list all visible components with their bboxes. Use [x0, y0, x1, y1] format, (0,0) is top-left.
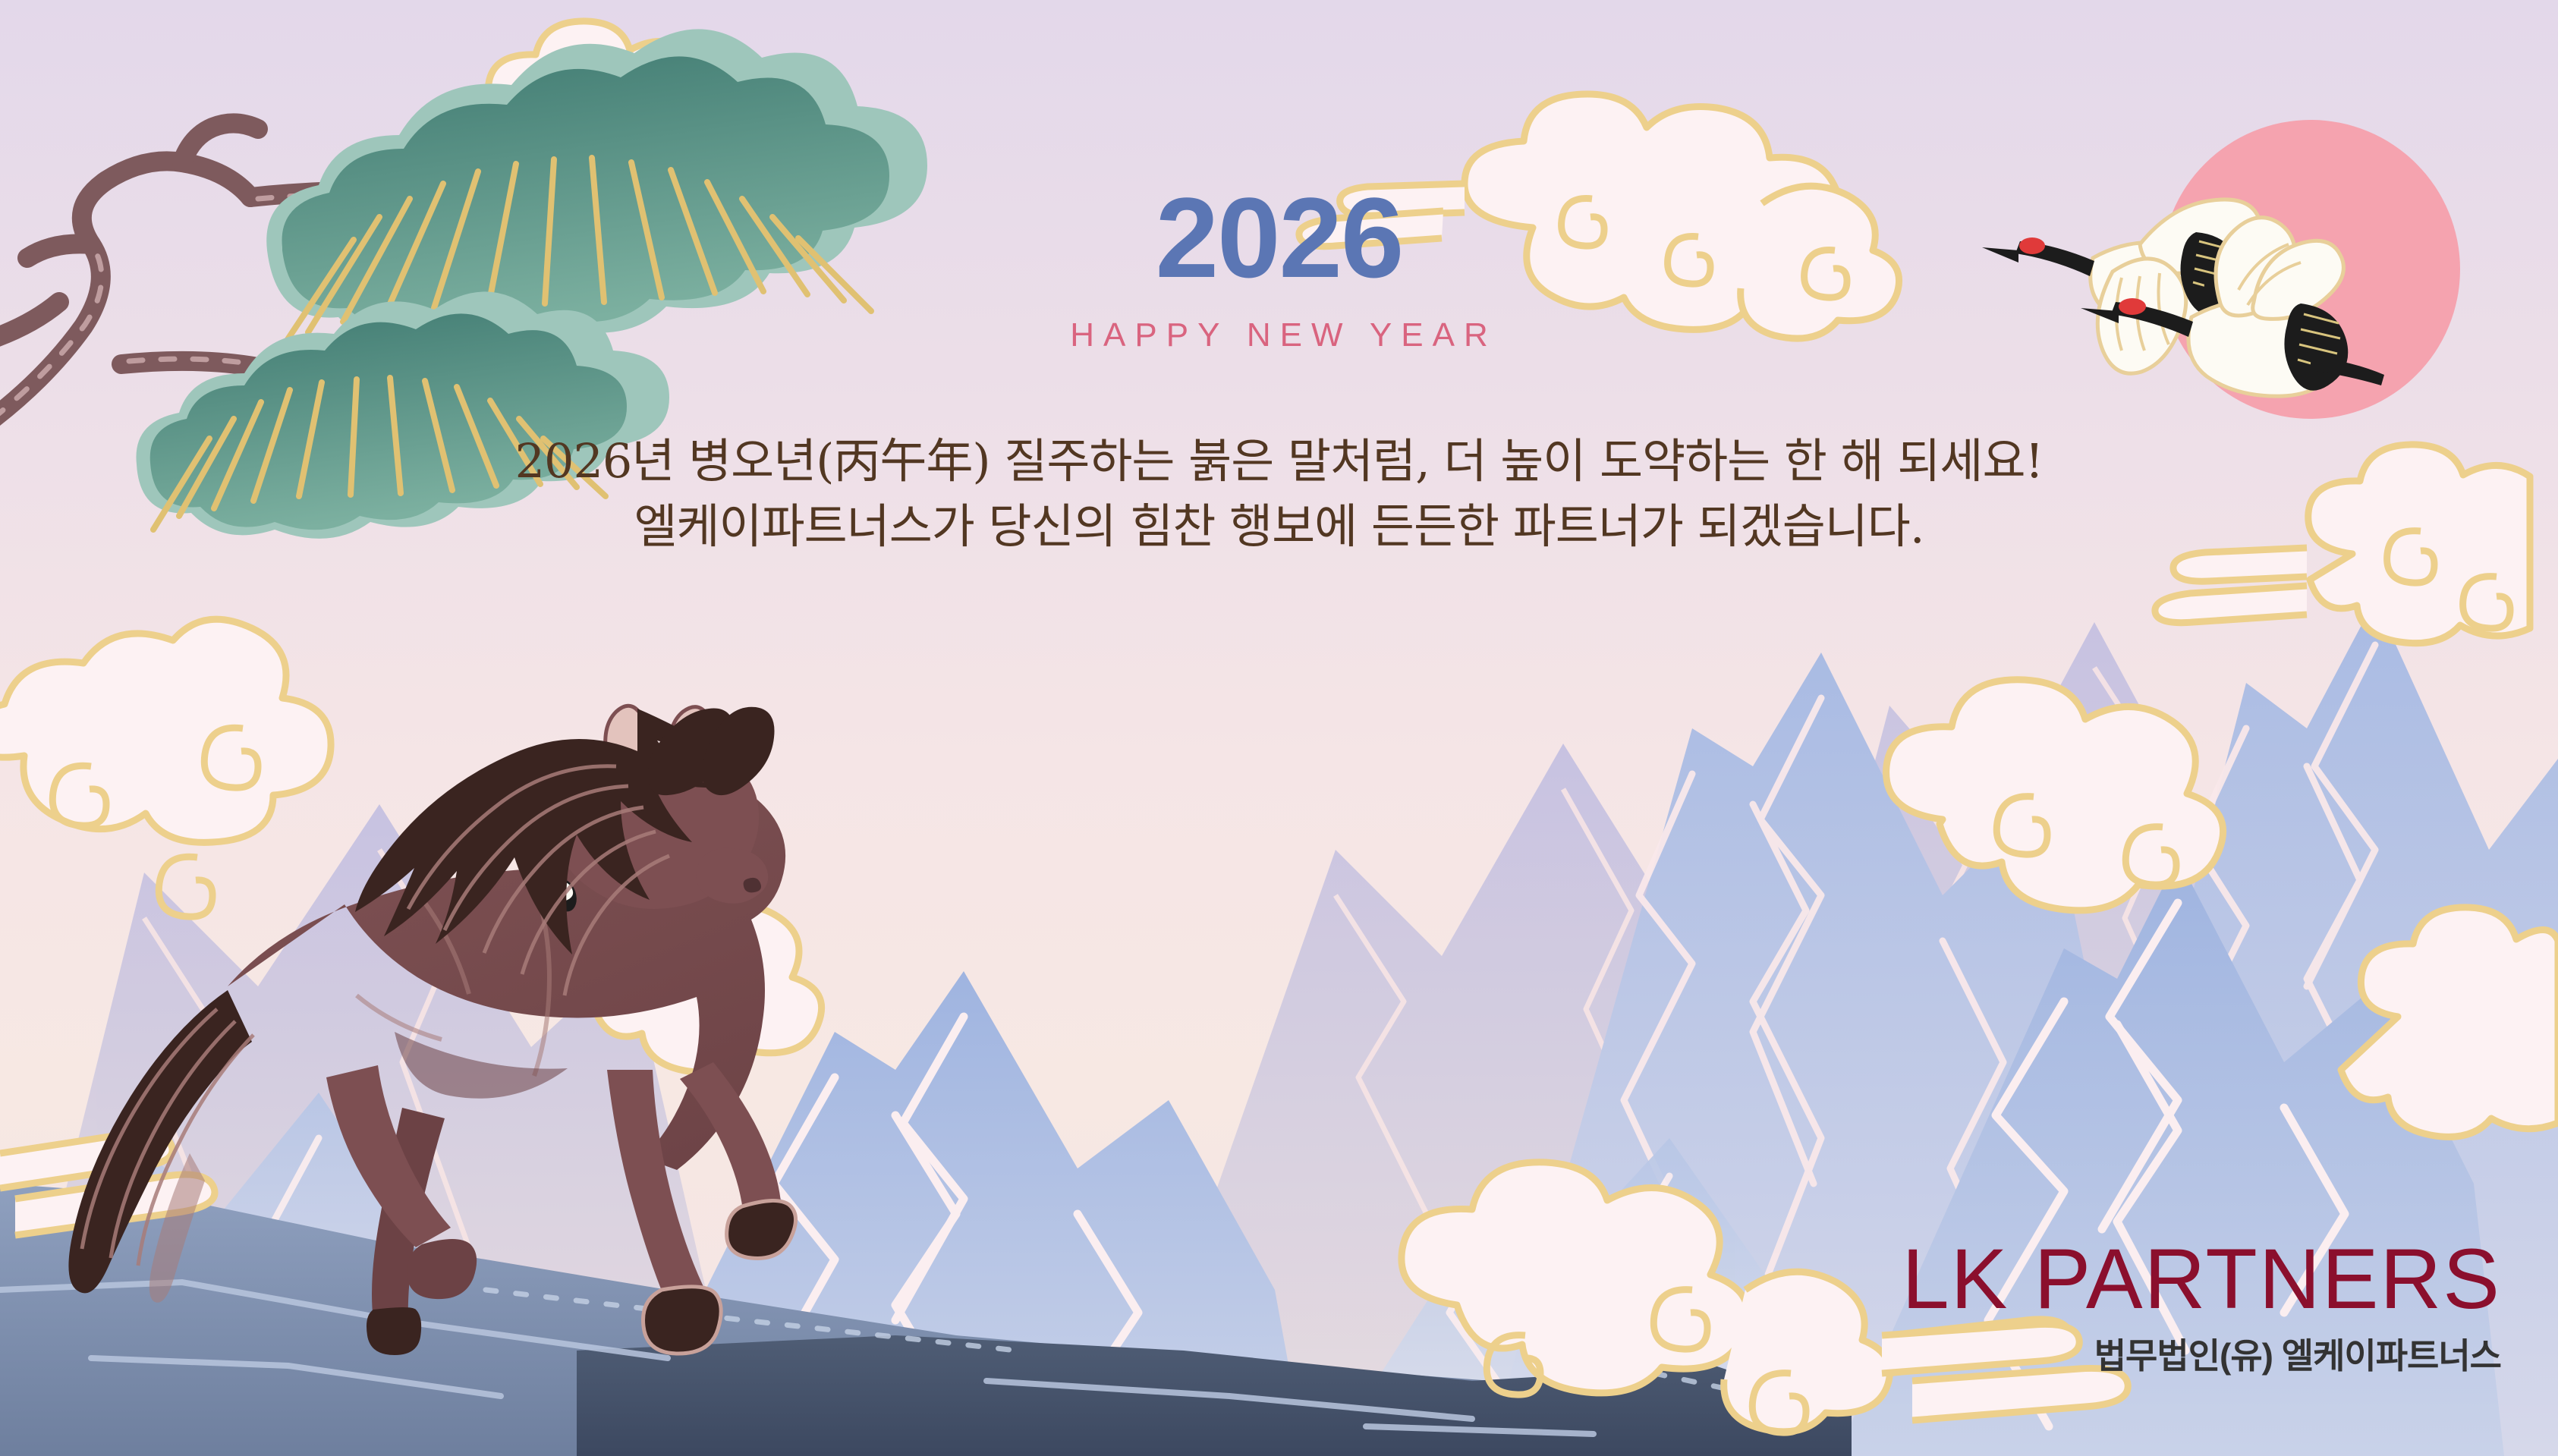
horse-hoof-planted — [643, 1287, 722, 1354]
company-logo: LK PARTNERS 법무법인(유) 엘케이파트너스 — [1902, 1237, 2501, 1373]
horse-muzzle — [697, 848, 769, 904]
horse-hoof-far — [367, 1307, 421, 1355]
greeting-message: 2026년 병오년(丙午年) 질주하는 붉은 말처럼, 더 높이 도약하는 한 … — [0, 429, 2558, 558]
logo-wordmark: LK PARTNERS — [1902, 1237, 2501, 1322]
horse-hoof-raised — [727, 1200, 796, 1258]
crane-crown — [2119, 298, 2146, 315]
greeting-line-2: 엘케이파트너스가 당신의 힘찬 행보에 든든한 파트너가 되겠습니다. — [0, 494, 2558, 559]
happy-new-year-tagline: HAPPY NEW YEAR — [0, 319, 2558, 352]
greeting-line-1: 2026년 병오년(丙午年) 질주하는 붉은 말처럼, 더 높이 도약하는 한 … — [0, 429, 2558, 494]
new-year-greeting-card: 2026 HAPPY NEW YEAR 2026년 병오년(丙午年) 질주하는 … — [0, 0, 2558, 1456]
logo-legal-name: 법무법인(유) 엘케이파트너스 — [1902, 1338, 2501, 1373]
year-heading: 2026 — [0, 181, 2558, 294]
